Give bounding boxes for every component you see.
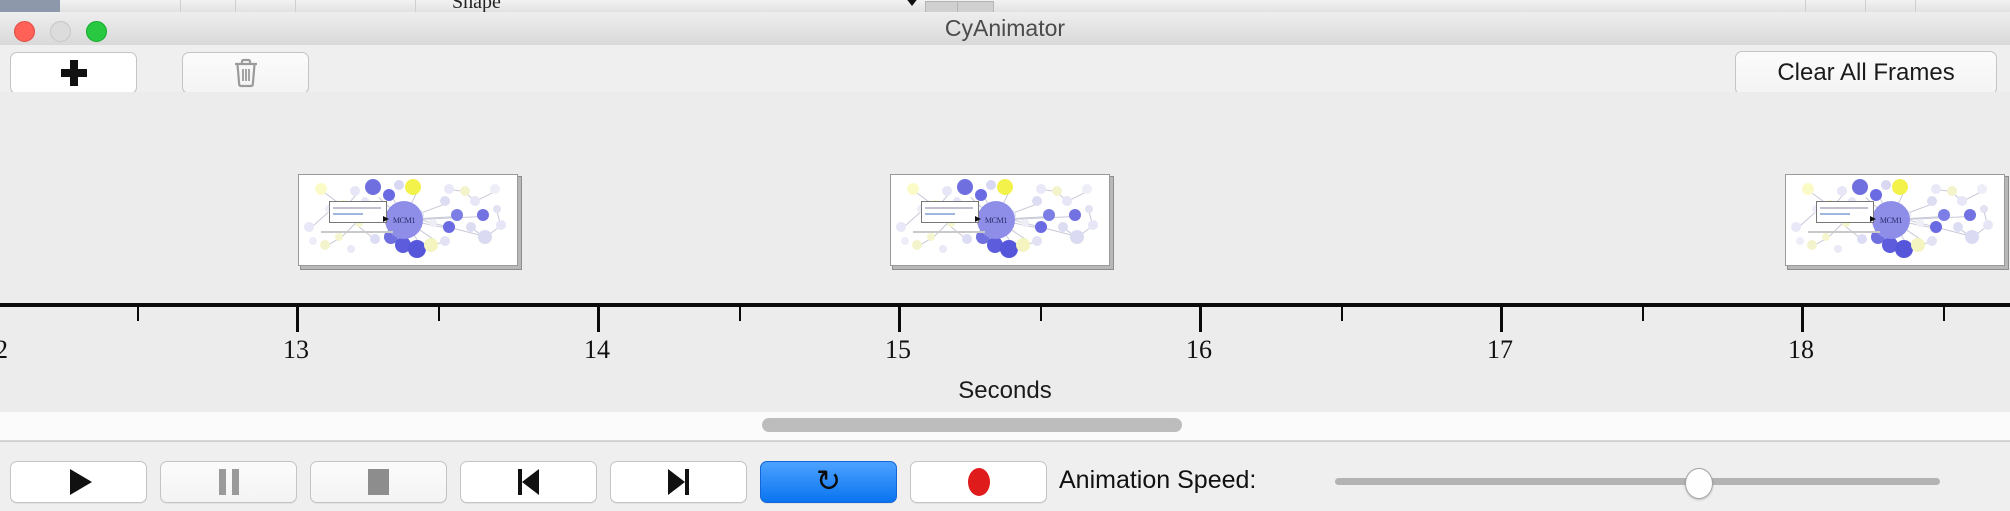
clear-all-frames-label: Clear All Frames — [1777, 59, 1954, 87]
timeline-frame[interactable]: MCM1 — [890, 174, 1110, 266]
loop-icon: ↻ — [816, 467, 841, 497]
delete-frame-button[interactable] — [182, 52, 309, 94]
tick-minor — [739, 307, 741, 321]
network-node — [1857, 234, 1867, 244]
network-node — [365, 179, 381, 195]
network-thumbnail: MCM1 — [891, 175, 1109, 265]
network-node — [1931, 184, 1941, 194]
network-thumbnail: MCM1 — [1786, 175, 2004, 265]
network-thumbnail: MCM1 — [299, 175, 517, 265]
tick-major — [898, 307, 901, 332]
network-node — [429, 219, 437, 227]
network-node — [496, 220, 506, 230]
network-node — [1892, 179, 1908, 195]
tick-minor — [1040, 307, 1042, 321]
timeline-frame[interactable]: MCM1 — [298, 174, 518, 266]
network-node — [1082, 184, 1092, 194]
tick-major — [1500, 307, 1503, 332]
tooltip-arrow-icon — [975, 216, 981, 222]
network-caption — [913, 231, 985, 233]
network-node — [1085, 205, 1093, 213]
network-hub-node: MCM1 — [385, 201, 423, 239]
tick-major — [597, 307, 600, 332]
network-node — [320, 240, 330, 250]
background-window-accent — [0, 0, 60, 12]
network-node — [1021, 219, 1029, 227]
network-node — [1852, 179, 1868, 195]
network-node — [912, 240, 922, 250]
timeline-axis — [0, 303, 2010, 307]
network-node — [1881, 180, 1891, 190]
trash-icon — [232, 58, 260, 88]
network-node — [350, 186, 360, 196]
network-node — [1069, 209, 1081, 221]
network-node — [424, 238, 438, 252]
network-node — [975, 189, 987, 201]
network-node — [1070, 230, 1084, 244]
network-node — [1916, 219, 1924, 227]
tick-major — [296, 307, 299, 332]
stop-icon — [368, 469, 389, 495]
network-node — [478, 230, 492, 244]
network-node — [394, 180, 404, 190]
scrollbar-thumb[interactable] — [762, 418, 1182, 432]
tick-minor — [137, 307, 139, 321]
network-node — [493, 205, 501, 213]
background-window-strip: Shape — [0, 0, 2010, 12]
network-node — [466, 222, 476, 232]
tooltip-text-line — [925, 207, 973, 209]
network-tooltip-box — [921, 201, 979, 223]
network-node — [383, 189, 395, 201]
network-node — [440, 236, 450, 246]
tooltip-arrow-icon — [1870, 216, 1876, 222]
network-node — [1927, 236, 1937, 246]
skip-back-button[interactable] — [460, 461, 597, 503]
tick-label: 17 — [1487, 335, 1513, 365]
background-box-2 — [957, 1, 994, 12]
skip-forward-icon — [668, 469, 689, 495]
network-node — [1062, 196, 1072, 206]
network-node — [957, 179, 973, 195]
animation-speed-thumb[interactable] — [1685, 468, 1713, 499]
cyanimator-window: Shape CyAnimator Clear All Frames — [0, 0, 2010, 510]
tooltip-arrow-icon — [383, 216, 389, 222]
skip-back-icon — [518, 469, 539, 495]
stop-button[interactable] — [310, 461, 447, 503]
network-node — [1032, 196, 1042, 206]
network-node — [942, 186, 952, 196]
network-node — [1947, 186, 1957, 196]
tick-label: 18 — [1788, 335, 1814, 365]
background-box-1 — [925, 1, 959, 12]
plus-icon — [61, 60, 87, 86]
network-node — [1052, 186, 1062, 196]
network-node — [927, 233, 935, 241]
background-seg-6 — [1805, 0, 1866, 12]
network-node — [443, 221, 455, 233]
timeline-frame[interactable]: MCM1 — [1785, 174, 2005, 266]
network-node — [460, 186, 470, 196]
network-node — [1035, 221, 1047, 233]
tick-major — [1199, 307, 1202, 332]
network-node — [1032, 236, 1042, 246]
network-caption — [1808, 231, 1880, 233]
network-node — [1870, 189, 1882, 201]
background-seg-7 — [1865, 0, 1916, 12]
tooltip-text-line — [1820, 213, 1850, 215]
tooltip-text-line — [1820, 207, 1868, 209]
tick-label: 14 — [584, 335, 610, 365]
horizontal-scrollbar[interactable] — [0, 412, 2010, 441]
tooltip-text-line — [925, 213, 955, 215]
tick-major — [1801, 307, 1804, 332]
network-node — [315, 183, 327, 195]
network-node — [1953, 222, 1963, 232]
network-node — [1088, 220, 1098, 230]
network-node — [470, 196, 480, 206]
network-node — [1983, 220, 1993, 230]
network-node — [901, 237, 909, 245]
axis-title: Seconds — [0, 377, 2010, 405]
network-node — [1043, 209, 1055, 221]
pause-button[interactable] — [160, 461, 297, 503]
tick-label: 16 — [1186, 335, 1212, 365]
network-node — [1834, 245, 1842, 253]
network-node — [1058, 222, 1068, 232]
background-shape-label: Shape — [452, 0, 501, 12]
window-title: CyAnimator — [0, 12, 2010, 45]
tick-label: 12 — [0, 335, 8, 365]
add-frame-button[interactable] — [10, 52, 137, 94]
network-node — [907, 183, 919, 195]
network-node — [309, 237, 317, 245]
skip-forward-button[interactable] — [610, 461, 747, 503]
title-bar: CyAnimator — [0, 12, 2010, 46]
tick-label: 13 — [283, 335, 309, 365]
network-node — [1802, 183, 1814, 195]
tick-label: 15 — [885, 335, 911, 365]
network-node — [1965, 230, 1979, 244]
play-button[interactable] — [10, 461, 147, 503]
network-node — [490, 184, 500, 194]
network-node — [1980, 205, 1988, 213]
timeline-panel[interactable]: 12131415161718 MCM1MCM1MCM1 Seconds — [0, 92, 2010, 413]
network-node — [444, 184, 454, 194]
tick-minor — [438, 307, 440, 321]
clear-all-frames-button[interactable]: Clear All Frames — [1735, 51, 1997, 95]
animation-speed-slider[interactable] — [1335, 478, 1940, 485]
play-icon — [70, 469, 92, 495]
background-caret-icon — [905, 0, 919, 6]
network-node — [1796, 237, 1804, 245]
network-node — [477, 209, 489, 221]
record-button[interactable] — [910, 461, 1047, 503]
animation-speed-label: Animation Speed: — [1059, 466, 1256, 495]
network-node — [370, 234, 380, 244]
network-node — [1837, 186, 1847, 196]
background-seg-4 — [295, 0, 416, 12]
network-node — [1807, 240, 1817, 250]
network-node — [1016, 238, 1030, 252]
network-node — [335, 233, 343, 241]
network-caption — [321, 231, 393, 233]
pause-icon — [219, 469, 239, 495]
background-seg-5 — [995, 0, 1806, 12]
loop-button[interactable]: ↻ — [760, 461, 897, 503]
tick-minor — [1943, 307, 1945, 321]
tick-minor — [1642, 307, 1644, 321]
network-tooltip-box — [329, 201, 387, 223]
record-icon — [968, 468, 990, 496]
background-seg-3 — [235, 0, 296, 12]
network-node — [347, 245, 355, 253]
tick-minor — [1341, 307, 1343, 321]
network-node — [1791, 222, 1801, 232]
network-node — [1977, 184, 1987, 194]
network-node — [997, 179, 1013, 195]
tooltip-text-line — [333, 213, 363, 215]
network-node — [896, 222, 906, 232]
network-node — [451, 209, 463, 221]
network-node — [1036, 184, 1046, 194]
network-hub-node: MCM1 — [977, 201, 1015, 239]
network-hub-node: MCM1 — [1872, 201, 1910, 239]
background-seg-2 — [180, 0, 236, 12]
network-tooltip-box — [1816, 201, 1874, 223]
network-node — [1938, 209, 1950, 221]
network-node — [986, 180, 996, 190]
network-node — [304, 222, 314, 232]
network-node — [939, 245, 947, 253]
network-node — [1964, 209, 1976, 221]
background-seg-1 — [60, 0, 181, 12]
network-node — [405, 179, 421, 195]
network-node — [1930, 221, 1942, 233]
network-node — [1927, 196, 1937, 206]
network-node — [440, 196, 450, 206]
network-node — [1911, 238, 1925, 252]
network-node — [1957, 196, 1967, 206]
network-node — [1822, 233, 1830, 241]
network-node — [962, 234, 972, 244]
tooltip-text-line — [333, 207, 381, 209]
